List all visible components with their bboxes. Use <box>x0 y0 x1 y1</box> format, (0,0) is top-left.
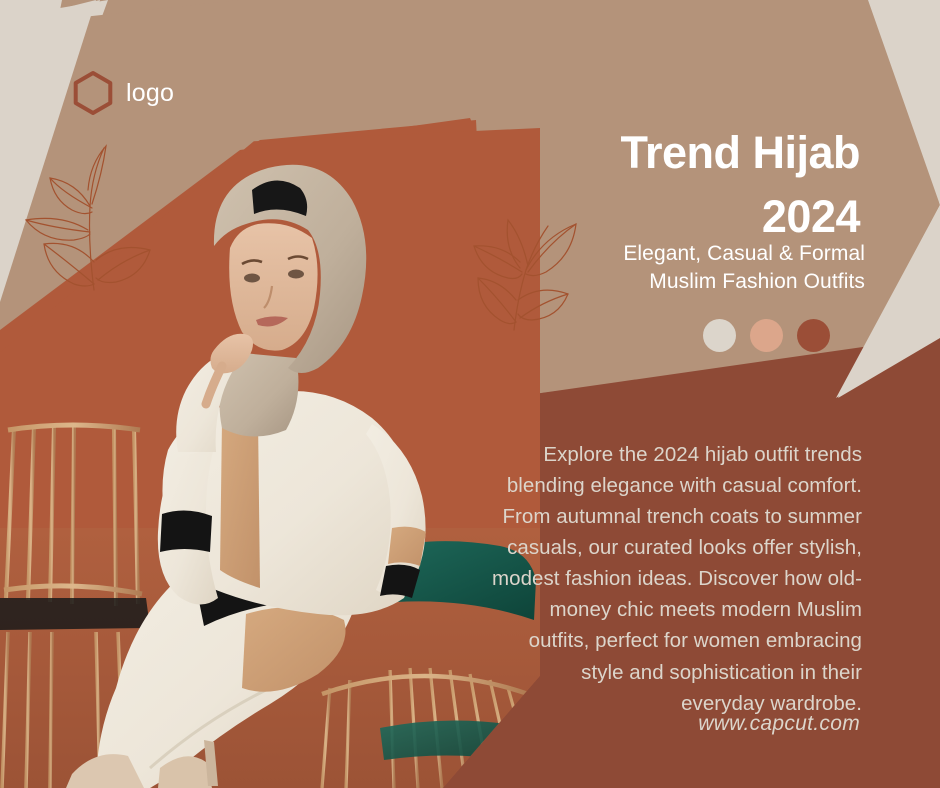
title-line-1: Trend Hijab <box>620 127 860 178</box>
swatch-cream[interactable] <box>703 319 736 352</box>
subtitle-line-1: Elegant, Casual & Formal <box>445 240 865 268</box>
swatch-rust[interactable] <box>797 319 830 352</box>
color-swatch-group <box>703 319 830 352</box>
poster-canvas: logo Trend Hijab 2024 Elegant, Casual & … <box>0 0 940 788</box>
subtitle-line-2: Muslim Fashion Outfits <box>445 268 865 296</box>
brand-logo-text: logo <box>126 81 174 106</box>
page-title: Trend Hijab 2024 <box>400 121 860 249</box>
swatch-tan[interactable] <box>750 319 783 352</box>
body-paragraph: Explore the 2024 hijab outfit trends ble… <box>492 439 862 719</box>
hexagon-logo-icon <box>72 70 114 116</box>
brand-logo[interactable]: logo <box>72 70 174 116</box>
subtitle: Elegant, Casual & Formal Muslim Fashion … <box>445 240 865 297</box>
website-url[interactable]: www.capcut.com <box>698 712 860 736</box>
